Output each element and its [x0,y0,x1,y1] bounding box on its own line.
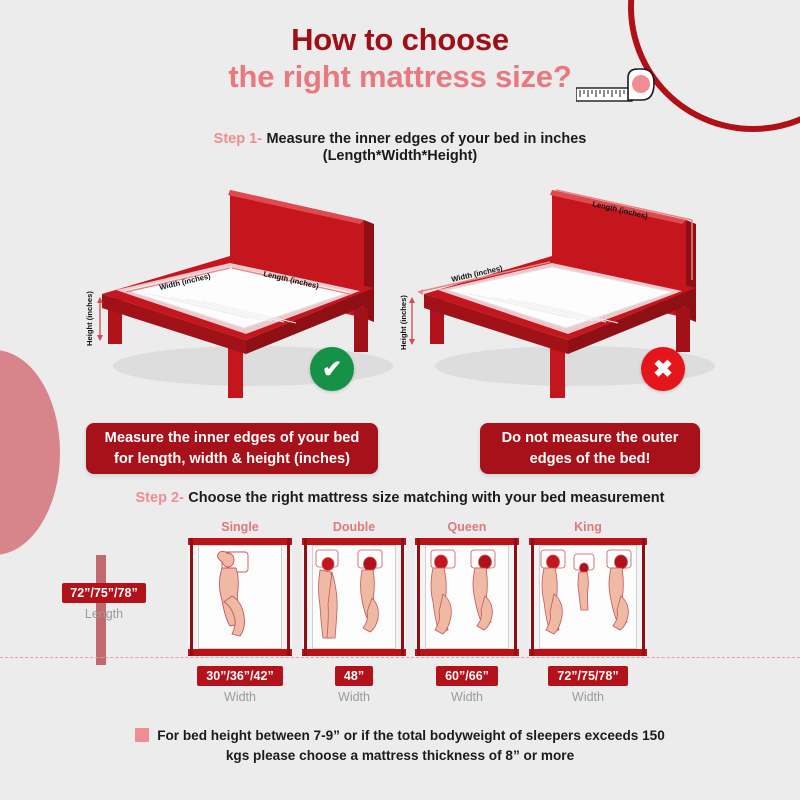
step1-text: Measure the inner edges of your bed in i… [266,131,586,147]
sleeper-illustration-king [529,538,647,656]
step2-tag: Step 2- [136,490,184,506]
bed-panel-single [188,538,292,656]
width-label-king: Width [529,690,647,704]
width-label-queen: Width [415,690,519,704]
step1-tag: Step 1- [214,131,262,147]
width-chip-queen: 60”/66” [436,666,498,686]
step2-text: Choose the right mattress size matching … [188,490,664,506]
sleeper-illustration-double [302,538,406,656]
callout-correct: Measure the inner edges of your bed for … [86,423,378,474]
page-title-line1: How to choose [0,22,800,58]
length-measure: 72”/75”/78” Length [44,583,164,621]
length-chip: 72”/75”/78” [62,583,145,603]
step1-heading: Step 1- Measure the inner edges of your … [0,130,800,164]
footer-line2: kgs please choose a mattress thickness o… [0,746,800,766]
size-column-king[interactable]: King [529,520,647,704]
size-column-queen[interactable]: Queen 60”/66” Width [415,520,519,704]
footer-bullet-icon [135,728,149,742]
decorative-pink-circle [0,350,60,555]
width-chip-single: 30”/36”/42” [197,666,282,686]
measuring-tape-icon [576,66,656,112]
size-column-single[interactable]: Single 30”/36”/42” Width [188,520,292,704]
footer-line1: For bed height between 7-9” or if the to… [157,728,665,743]
check-badge: ✔ [310,347,354,391]
cross-badge: ✖ [641,347,685,391]
bed-panel-king [529,538,647,656]
size-name-single: Single [188,520,292,534]
sleeper-illustration-queen [415,538,519,656]
label-height-right: Height (inches) [400,295,408,350]
step2-heading: Step 2- Choose the right mattress size m… [0,489,800,507]
size-name-double: Double [302,520,406,534]
footer-note: For bed height between 7-9” or if the to… [0,726,800,767]
size-column-double[interactable]: Double 48” Width [302,520,406,704]
page-title-line2: the right mattress size? [228,58,571,97]
size-name-king: King [529,520,647,534]
dashed-divider [0,657,800,658]
width-chip-king: 72”/75/78” [548,666,627,686]
sleeper-illustration-single [188,538,292,656]
length-label: Length [44,607,164,621]
step1-subtext: (Length*Width*Height) [0,148,800,164]
bed-panel-double [302,538,406,656]
size-name-queen: Queen [415,520,519,534]
infographic-canvas: How to choose the right mattress size? S… [0,0,800,800]
callout-wrong: Do not measure the outer edges of the be… [480,423,700,474]
width-label-single: Width [188,690,292,704]
width-label-double: Width [302,690,406,704]
bed-panel-queen [415,538,519,656]
label-height-left: Height (inches) [85,291,94,346]
header: How to choose the right mattress size? [0,22,800,96]
width-chip-double: 48” [335,666,373,686]
